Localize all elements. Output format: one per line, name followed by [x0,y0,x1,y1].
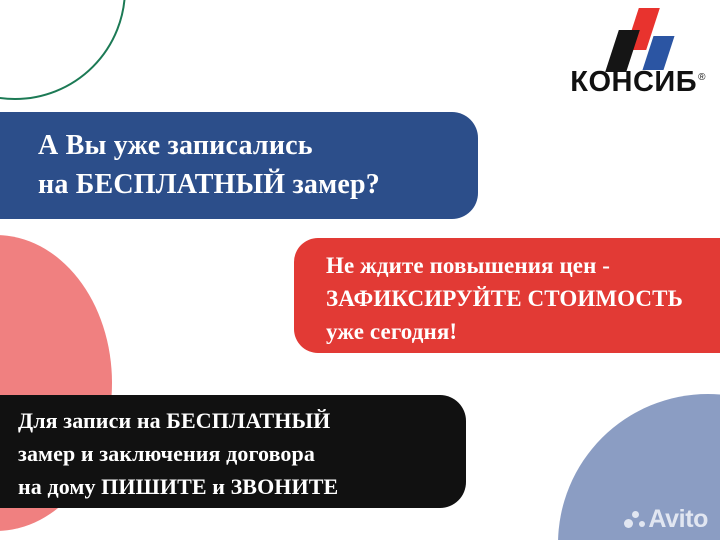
avito-watermark-label: Avito [648,507,708,532]
advertisement-canvas: КОНСИБ® А Вы уже записались на БЕСПЛАТНЫ… [0,0,720,540]
headline-banner: А Вы уже записались на БЕСПЛАТНЫЙ замер? [0,112,478,219]
avito-watermark: Avito [624,507,708,532]
brand-logo: КОНСИБ® [566,8,706,104]
offer-line-3: уже сегодня! [326,315,720,348]
offer-line-1: Не ждите повышения цен - [326,249,720,282]
green-ring-decoration [0,0,126,100]
offer-banner: Не ждите повышения цен - ЗАФИКСИРУЙТЕ СТ… [294,238,720,353]
logo-wordmark: КОНСИБ® [566,66,706,99]
logo-mark-group [566,8,706,70]
cta-line-3: на дому ПИШИТЕ и ЗВОНИТЕ [18,470,466,503]
cta-line-2: замер и заключения договора [18,437,466,470]
cta-banner: Для записи на БЕСПЛАТНЫЙ замер и заключе… [0,395,466,508]
headline-line-1: А Вы уже записались [38,126,478,165]
avito-dots-icon [624,510,645,530]
cta-line-1: Для записи на БЕСПЛАТНЫЙ [18,404,466,437]
logo-wordmark-text: КОНСИБ [570,66,697,98]
headline-line-2: на БЕСПЛАТНЫЙ замер? [38,165,478,204]
offer-line-2: ЗАФИКСИРУЙТЕ СТОИМОСТЬ [326,282,720,315]
registered-trademark-icon: ® [698,72,706,83]
